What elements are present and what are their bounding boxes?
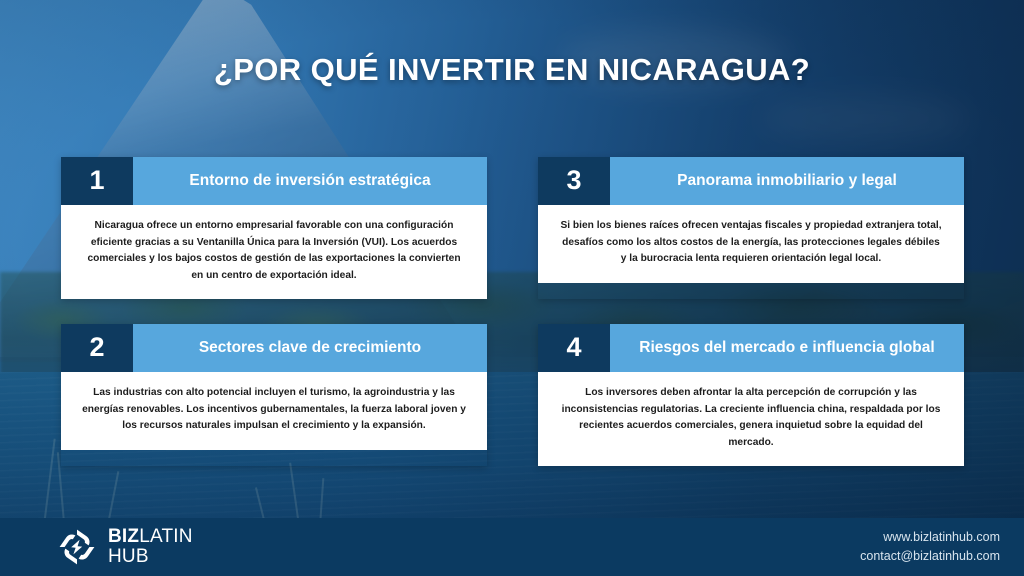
card-3-header: 3 Panorama inmobiliario y legal: [538, 157, 964, 205]
card-3-title: Panorama inmobiliario y legal: [610, 157, 964, 205]
bizlatinhub-logo-icon: [58, 528, 96, 566]
brand-lockup: BIZLATIN HUB: [58, 527, 193, 567]
card-3: 3 Panorama inmobiliario y legal Si bien …: [538, 157, 964, 299]
card-3-number-badge: 3: [538, 157, 610, 205]
card-4-body: Los inversores deben afrontar la alta pe…: [538, 372, 964, 466]
card-2-number-badge: 2: [61, 324, 133, 372]
cards-row-top: 1 Entorno de inversión estratégica Nicar…: [61, 157, 965, 299]
card-2-header: 2 Sectores clave de crecimiento: [61, 324, 487, 372]
email-link[interactable]: contact@bizlatinhub.com: [860, 547, 1000, 566]
card-1-number-badge: 1: [61, 157, 133, 205]
contact-block: www.bizlatinhub.com contact@bizlatinhub.…: [860, 528, 1000, 566]
card-2-title: Sectores clave de crecimiento: [133, 324, 487, 372]
brand-wordmark: BIZLATIN HUB: [108, 527, 193, 567]
card-4-number-badge: 4: [538, 324, 610, 372]
cards-grid: 1 Entorno de inversión estratégica Nicar…: [61, 157, 965, 466]
page-title: ¿POR QUÉ INVERTIR EN NICARAGUA?: [0, 52, 1024, 88]
card-4-title: Riesgos del mercado e influencia global: [610, 324, 964, 372]
card-2: 2 Sectores clave de crecimiento Las indu…: [61, 324, 487, 466]
card-1: 1 Entorno de inversión estratégica Nicar…: [61, 157, 487, 299]
cards-row-bottom: 2 Sectores clave de crecimiento Las indu…: [61, 324, 965, 466]
brand-word-latin: LATIN: [139, 526, 192, 547]
infographic-canvas: ¿POR QUÉ INVERTIR EN NICARAGUA? 1 Entorn…: [0, 0, 1024, 576]
card-3-body: Si bien los bienes raíces ofrecen ventaj…: [538, 205, 964, 283]
card-4: 4 Riesgos del mercado e influencia globa…: [538, 324, 964, 466]
card-4-header: 4 Riesgos del mercado e influencia globa…: [538, 324, 964, 372]
card-2-body: Las industrias con alto potencial incluy…: [61, 372, 487, 450]
card-1-title: Entorno de inversión estratégica: [133, 157, 487, 205]
brand-word-hub: HUB: [108, 547, 193, 567]
card-1-header: 1 Entorno de inversión estratégica: [61, 157, 487, 205]
brand-word-biz: BIZ: [108, 526, 139, 547]
website-link[interactable]: www.bizlatinhub.com: [860, 528, 1000, 547]
footer-bar: BIZLATIN HUB www.bizlatinhub.com contact…: [0, 518, 1024, 576]
card-1-body: Nicaragua ofrece un entorno empresarial …: [61, 205, 487, 299]
